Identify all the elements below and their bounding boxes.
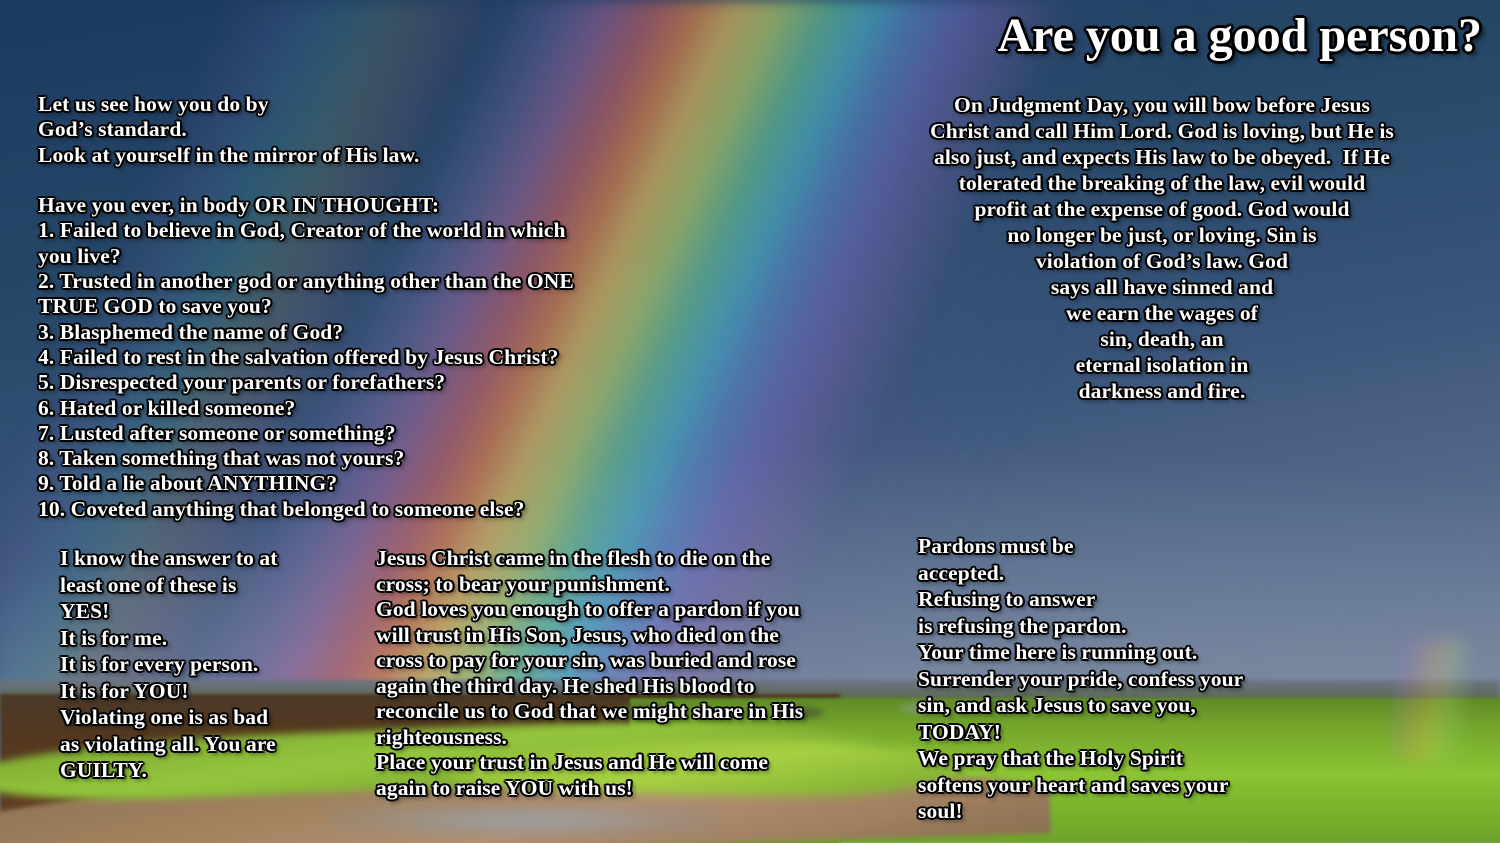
gospel-message-text: Jesus Christ came in the flesh to die on… xyxy=(376,546,906,801)
law-checklist-text: Let us see how you do by God’s standard.… xyxy=(38,92,738,522)
rainbow-foot xyxy=(1394,640,1468,760)
judgment-day-text: On Judgment Day, you will bow before Jes… xyxy=(862,92,1462,404)
road-puddle xyxy=(330,802,720,838)
poster-canvas: Are you a good person? Let us see how yo… xyxy=(0,0,1500,843)
guilty-verdict-text: I know the answer to at least one of the… xyxy=(60,545,360,784)
pardon-appeal-text: Pardons must be accepted. Refusing to an… xyxy=(918,533,1338,825)
page-title: Are you a good person? xyxy=(998,8,1482,64)
